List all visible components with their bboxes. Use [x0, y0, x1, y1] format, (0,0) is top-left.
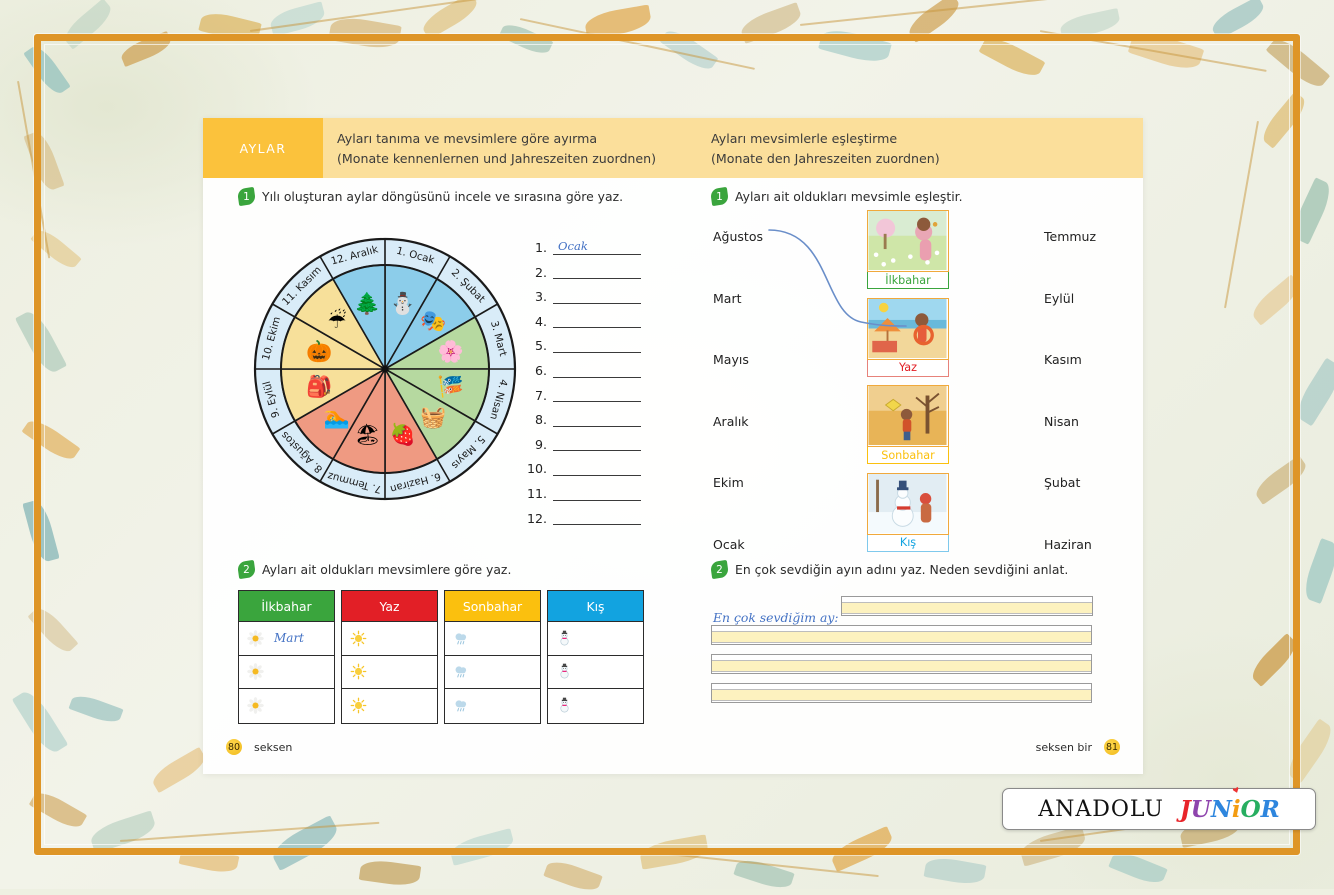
- matching-month-left[interactable]: Mayıs: [713, 329, 828, 391]
- right-task1-text: Ayları ait oldukları mevsimle eşleştir.: [735, 189, 963, 204]
- writing-line[interactable]: [711, 683, 1092, 703]
- matching-month-left[interactable]: Aralık: [713, 391, 828, 453]
- matching-right-months: TemmuzEylülKasımNisanŞubatHaziran: [1044, 206, 1159, 575]
- matching-left-months: AğustosMartMayısAralıkEkimOcak: [713, 206, 828, 575]
- season-column: İlkbaharMart: [238, 590, 335, 724]
- left-task1-text: Yılı oluşturan aylar döngüsünü incele ve…: [262, 189, 623, 204]
- svg-text:🌸: 🌸: [438, 338, 464, 363]
- season-sort-table: İlkbaharMartYazSonbaharKış: [238, 590, 644, 724]
- season-card-label: İlkbahar: [867, 272, 949, 289]
- favourite-month-input[interactable]: [841, 596, 1093, 616]
- season-cell[interactable]: [239, 656, 334, 690]
- season-card-label: Yaz: [867, 360, 949, 377]
- list-item-number: 2.: [521, 267, 553, 280]
- list-item-blank[interactable]: Ocak: [553, 239, 641, 255]
- list-item-blank[interactable]: [553, 460, 641, 476]
- task-number-badge: 2: [710, 560, 729, 579]
- list-item[interactable]: 8.: [521, 402, 641, 427]
- spring-girl-flowers-image: [867, 210, 949, 272]
- svg-text:🎭: 🎭: [420, 309, 446, 333]
- daisy-icon: [247, 663, 264, 680]
- rain-cloud-icon: [453, 697, 470, 714]
- page-word: seksen bir: [1036, 741, 1092, 754]
- months-answer-list: 1.Ocak2.3.4.5.6.7.8.9.10.11.12.: [521, 230, 641, 525]
- season-cell[interactable]: [548, 622, 643, 656]
- list-item-number: 10.: [521, 463, 553, 476]
- list-item-number: 9.: [521, 439, 553, 452]
- unit-tab: AYLAR: [203, 118, 323, 178]
- list-item[interactable]: 7.: [521, 378, 641, 403]
- list-item-number: 3.: [521, 291, 553, 304]
- list-item-blank[interactable]: [553, 485, 641, 501]
- header-left-title: Ayları tanıma ve mevsimlere göre ayırma: [337, 129, 656, 149]
- matching-month-left[interactable]: Mart: [713, 268, 828, 330]
- worksheet-page: AYLAR Ayları tanıma ve mevsimlere göre a…: [203, 118, 1143, 774]
- season-cell[interactable]: [239, 689, 334, 723]
- matching-month-right[interactable]: Nisan: [1044, 391, 1159, 453]
- list-item-number: 1.: [521, 242, 553, 255]
- writing-line[interactable]: [711, 654, 1092, 674]
- rain-cloud-icon: [453, 630, 470, 647]
- season-column: Sonbahar: [444, 590, 541, 724]
- left-task1-heading: 1 Yılı oluşturan aylar döngüsünü incele …: [238, 188, 623, 205]
- snowman-icon: [556, 697, 573, 714]
- season-card[interactable]: Sonbahar: [867, 385, 949, 464]
- daisy-icon: [247, 697, 264, 714]
- svg-text:🏖: 🏖: [354, 423, 381, 447]
- season-cell[interactable]: Mart: [239, 622, 334, 656]
- header-right-title: Ayları mevsimlerle eşleştirme: [711, 129, 940, 149]
- season-cell[interactable]: [342, 622, 437, 656]
- right-task2-text: En çok sevdiğin ayın adını yaz. Neden se…: [735, 562, 1068, 577]
- list-item-blank[interactable]: [553, 362, 641, 378]
- list-item-blank[interactable]: [553, 509, 641, 525]
- matching-month-left[interactable]: Ağustos: [713, 206, 828, 268]
- list-item[interactable]: 9.: [521, 427, 641, 452]
- daisy-icon: 80: [221, 734, 247, 760]
- list-item-number: 11.: [521, 488, 553, 501]
- brand-logo: ANADOLU JUNiOR: [1002, 788, 1316, 830]
- list-item-number: 4.: [521, 316, 553, 329]
- list-item-number: 12.: [521, 513, 553, 526]
- svg-text:⛄: ⛄: [390, 290, 416, 316]
- header-band: AYLAR Ayları tanıma ve mevsimlere göre a…: [203, 118, 1143, 178]
- svg-text:🏊: 🏊: [324, 405, 350, 429]
- daisy-icon: 81: [1099, 734, 1125, 760]
- list-item-number: 6.: [521, 365, 553, 378]
- logo-letter: i: [1232, 796, 1241, 823]
- svg-text:☔: ☔: [327, 308, 346, 333]
- page-number: 80: [226, 739, 242, 755]
- season-column-header: Yaz: [342, 591, 437, 622]
- season-cell[interactable]: [445, 656, 540, 690]
- snowman-icon: [556, 630, 573, 647]
- snowman-icon: [556, 663, 573, 680]
- svg-text:🌲: 🌲: [354, 290, 380, 315]
- sun-icon: [350, 663, 367, 680]
- daisy-icon: [247, 630, 264, 647]
- svg-text:🎏: 🎏: [438, 375, 464, 399]
- writing-lines: [711, 625, 1111, 703]
- logo-letter: R: [1261, 796, 1280, 823]
- season-card[interactable]: Kış: [867, 473, 949, 552]
- months-wheel-svg: 1. Ocak2. Şubat3. Mart4. Nisan5. Mayıs6.…: [251, 235, 519, 503]
- brand-sub-name: JUNiOR: [1180, 796, 1280, 823]
- list-item[interactable]: 1.Ocak: [521, 230, 641, 255]
- season-column: Yaz: [341, 590, 438, 724]
- list-item-blank[interactable]: [553, 263, 641, 279]
- logo-letter: U: [1191, 796, 1211, 823]
- matching-month-right[interactable]: Temmuz: [1044, 206, 1159, 268]
- favourite-month-label: En çok sevdiğim ay:: [713, 610, 839, 625]
- months-wheel: 1. Ocak2. Şubat3. Mart4. Nisan5. Mayıs6.…: [251, 235, 519, 503]
- season-cell[interactable]: [548, 689, 643, 723]
- task-number-badge: 1: [237, 187, 256, 206]
- page-number: 81: [1104, 739, 1120, 755]
- logo-letter: O: [1241, 796, 1261, 823]
- task-number-badge: 2: [237, 560, 256, 579]
- writing-line[interactable]: [711, 625, 1092, 645]
- list-item-blank[interactable]: [553, 411, 641, 427]
- svg-text:🍓: 🍓: [390, 422, 416, 447]
- month-season-matching: AğustosMartMayısAralıkEkimOcak İlkbaharY…: [711, 206, 1141, 566]
- page-word: seksen: [254, 741, 292, 754]
- task-number-badge: 1: [710, 187, 729, 206]
- sun-icon: [350, 697, 367, 714]
- brand-name: ANADOLU: [1038, 797, 1164, 822]
- list-item[interactable]: 6.: [521, 353, 641, 378]
- svg-text:🎒: 🎒: [306, 374, 332, 400]
- list-item-number: 8.: [521, 414, 553, 427]
- season-cell[interactable]: [342, 656, 437, 690]
- list-item[interactable]: 4.: [521, 304, 641, 329]
- season-card-label: Kış: [867, 535, 949, 552]
- season-card-label: Sonbahar: [867, 447, 949, 464]
- list-item[interactable]: 12.: [521, 501, 641, 526]
- right-task2-heading: 2 En çok sevdiğin ayın adını yaz. Neden …: [711, 561, 1068, 578]
- logo-letter: J: [1180, 796, 1191, 823]
- autumn-kite-boy-image: [867, 385, 949, 447]
- right-page-footer: seksen bir 81: [1036, 734, 1125, 760]
- list-item-blank[interactable]: [553, 386, 641, 402]
- list-item-blank[interactable]: [553, 337, 641, 353]
- matching-month-right[interactable]: Kasım: [1044, 329, 1159, 391]
- season-column-header: İlkbahar: [239, 591, 334, 622]
- svg-text:🎃: 🎃: [306, 338, 332, 363]
- header-left-subtitle: (Monate kennenlernen und Jahreszeiten zu…: [337, 149, 656, 169]
- list-item-blank[interactable]: [553, 312, 641, 328]
- list-item[interactable]: 5.: [521, 328, 641, 353]
- matching-month-right[interactable]: Şubat: [1044, 452, 1159, 514]
- free-writing-area: En çok sevdiğim ay:: [711, 596, 1111, 712]
- list-item[interactable]: 10.: [521, 451, 641, 476]
- list-item-number: 5.: [521, 340, 553, 353]
- logo-letter: N: [1211, 796, 1232, 823]
- left-task2-text: Ayları ait oldukları mevsimlere göre yaz…: [262, 562, 511, 577]
- sun-icon: [350, 630, 367, 647]
- matching-month-right[interactable]: Eylül: [1044, 268, 1159, 330]
- unit-tab-label: AYLAR: [240, 141, 287, 156]
- list-item-blank[interactable]: [553, 435, 641, 451]
- winter-snowman-kids-image: [867, 473, 949, 535]
- season-cell[interactable]: [342, 689, 437, 723]
- season-cell[interactable]: [445, 622, 540, 656]
- svg-text:🧺: 🧺: [420, 405, 446, 429]
- list-item-blank[interactable]: [553, 288, 641, 304]
- season-cards: İlkbaharYazSonbaharKış: [867, 210, 949, 560]
- list-item-number: 7.: [521, 390, 553, 403]
- rain-cloud-icon: [453, 663, 470, 680]
- right-task1-heading: 1 Ayları ait oldukları mevsimle eşleştir…: [711, 188, 963, 205]
- header-right-subtitle: (Monate den Jahreszeiten zuordnen): [711, 149, 940, 169]
- summer-beach-girl-image: [867, 298, 949, 360]
- header-right-objective: Ayları mevsimlerle eşleştirme (Monate de…: [711, 129, 940, 168]
- season-column-header: Sonbahar: [445, 591, 540, 622]
- season-column-header: Kış: [548, 591, 643, 622]
- matching-month-left[interactable]: Ekim: [713, 452, 828, 514]
- list-item[interactable]: 3.: [521, 279, 641, 304]
- list-item[interactable]: 11.: [521, 476, 641, 501]
- season-card[interactable]: İlkbahar: [867, 210, 949, 289]
- left-page-footer: 80 seksen: [221, 734, 292, 760]
- season-cell-answer: Mart: [274, 631, 304, 645]
- list-item[interactable]: 2.: [521, 255, 641, 280]
- list-item-answer: Ocak: [558, 239, 588, 253]
- season-card[interactable]: Yaz: [867, 298, 949, 377]
- header-left-objective: Ayları tanıma ve mevsimlere göre ayırma …: [337, 129, 656, 168]
- season-cell[interactable]: [445, 689, 540, 723]
- season-cell[interactable]: [548, 656, 643, 690]
- season-column: Kış: [547, 590, 644, 724]
- left-task2-heading: 2 Ayları ait oldukları mevsimlere göre y…: [238, 561, 511, 578]
